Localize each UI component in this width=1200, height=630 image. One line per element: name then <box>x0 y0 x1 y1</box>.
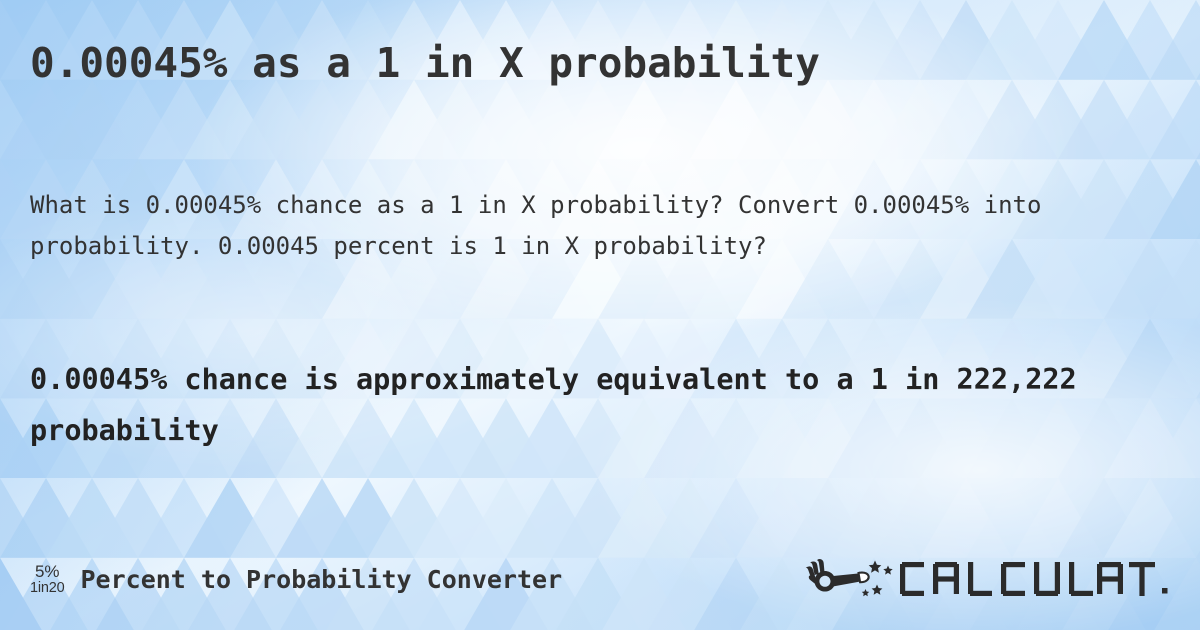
percent-probability-badge: 5% 1in20 <box>30 561 64 596</box>
footer-bar: 5% 1in20 Percent to Probability Converte… <box>0 548 1200 610</box>
card-content: 0.00045% as a 1 in X probability What is… <box>0 0 1200 630</box>
page-description: What is 0.00045% chance as a 1 in X prob… <box>30 185 1120 268</box>
magic-wand-hand-icon <box>806 559 893 596</box>
badge-percent-label: 5% <box>35 563 60 581</box>
brand-logo-group[interactable] <box>805 556 1170 602</box>
footer-left-group: 5% 1in20 Percent to Probability Converte… <box>30 561 562 596</box>
og-image-card: 0.00045% as a 1 in X probability What is… <box>0 0 1200 630</box>
badge-oneinx-label: 1in20 <box>30 581 64 596</box>
tool-name-label: Percent to Probability Converter <box>80 565 562 594</box>
conversion-result: 0.00045% chance is approximately equival… <box>30 355 1160 456</box>
page-title: 0.00045% as a 1 in X probability <box>30 40 820 87</box>
calculatio-logo[interactable] <box>805 556 1170 602</box>
calculatio-wordmark <box>900 562 1168 596</box>
